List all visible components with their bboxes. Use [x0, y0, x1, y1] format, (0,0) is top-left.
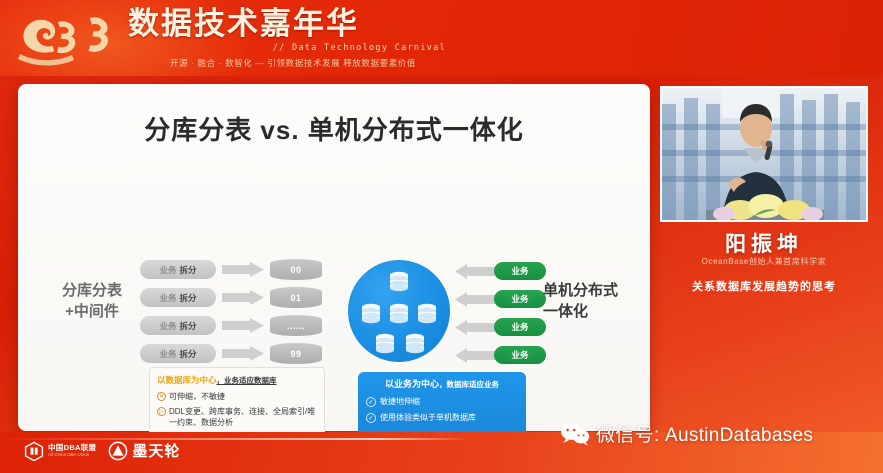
check-circle-icon: ✓: [366, 413, 376, 423]
speaker-photo-image: [662, 88, 868, 222]
database-icon: [360, 302, 382, 324]
speaker-role: OceanBase创始人兼首席科学家: [660, 256, 868, 267]
business-pill-green: 业务: [494, 346, 546, 364]
note-item-text: 可伸缩，不敏捷: [169, 391, 225, 402]
motianlun-logo-bottom: 墨天轮: [108, 440, 180, 461]
integrated-approach-label: 单机分布式 一体化: [543, 280, 643, 322]
play-circle-icon: ▷: [157, 407, 166, 416]
shard-cylinder: 01: [270, 287, 322, 308]
arrow-right-icon: [222, 290, 264, 305]
slide-screenshot: 数据技术嘉年华 // Data Technology Carnival 开源 ·…: [0, 0, 883, 473]
event-title: 数据技术嘉年华: [128, 6, 548, 42]
business-pill-green: 业务: [494, 290, 546, 308]
business-pill-action: 拆分: [180, 320, 197, 332]
wave-numeral-533-logo: [14, 6, 132, 70]
note-item: ✓ 敏捷地伸缩: [366, 396, 518, 407]
database-icon: [404, 332, 426, 354]
database-icon: [388, 302, 410, 324]
arrow-right-icon: [222, 318, 264, 333]
wechat-icon: [560, 422, 590, 446]
business-centric-rest: ，数据库适应业务: [439, 380, 499, 389]
db-centric-accent: 以数据库为中心: [157, 375, 217, 385]
dba-union-cn-bottom: 中国DBA联盟: [48, 443, 96, 452]
business-pill: 业务 拆分: [140, 288, 216, 307]
distributed-database-circle: [348, 260, 450, 362]
note-item: ✕ 可伸缩，不敏捷: [157, 391, 317, 402]
business-centric-accent: 以业务为中心: [385, 379, 439, 389]
business-pill-tag: 业务: [159, 320, 176, 332]
slide-title: 分库分表 vs. 单机分布式一体化: [18, 110, 650, 147]
database-icon: [374, 332, 396, 354]
dba-union-mark-icon: [24, 441, 44, 461]
header-text-block: 数据技术嘉年华 // Data Technology Carnival 开源 ·…: [128, 6, 548, 69]
note-item-text: 敏捷地伸缩: [380, 396, 420, 407]
database-icon: [416, 302, 438, 324]
motianlun-wordmark-bottom: 墨天轮: [132, 440, 180, 461]
arrow-right-icon: [222, 346, 264, 361]
business-pill: 业务 拆分: [140, 344, 216, 363]
presentation-slide: 分库分表 vs. 单机分布式一体化 分库分表 +中间件 业务 拆分 00 业务 …: [18, 84, 650, 431]
business-centric-note-box: 以业务为中心，数据库适应业务 ✓ 敏捷地伸缩 ✓ 使用体验类似于单机数据库: [358, 372, 526, 440]
bottom-logos: 中国DBA联盟 All China DBA Union 墨天轮: [24, 440, 180, 461]
motianlun-mark-icon: [108, 441, 128, 461]
note-item: ✓ 使用体验类似于单机数据库: [366, 412, 518, 423]
integrated-label-line2: 一体化: [543, 301, 643, 322]
event-title-english: // Data Technology Carnival: [128, 43, 446, 53]
note-item: ▷ DDL变更、跨库事务、连接、全局索引/唯一约束、数据分析: [157, 406, 317, 428]
arrow-left-icon: [455, 264, 495, 279]
business-pill-tag: 业务: [159, 292, 176, 304]
shard-row: 业务 拆分 ......: [140, 316, 325, 335]
event-header-banner: 数据技术嘉年华 // Data Technology Carnival 开源 ·…: [0, 0, 883, 76]
note-item-text: 使用体验类似于单机数据库: [380, 412, 476, 423]
sharding-label-line2: +中间件: [42, 301, 142, 322]
cross-circle-icon: ✕: [157, 392, 166, 401]
business-pill: 业务 拆分: [140, 316, 216, 335]
check-circle-icon: ✓: [366, 397, 376, 407]
dba-union-logo-bottom: 中国DBA联盟 All China DBA Union: [24, 441, 96, 461]
shard-row: 业务 拆分 00: [140, 260, 325, 279]
arrow-right-icon: [222, 262, 264, 277]
arrow-left-icon: [455, 348, 495, 363]
business-pill-action: 拆分: [180, 264, 197, 276]
db-centric-note-heading: 以数据库为中心，业务适应数据库: [157, 374, 317, 387]
business-pill-action: 拆分: [180, 292, 197, 304]
business-pill-action: 拆分: [180, 348, 197, 360]
business-pill-green: 业务: [494, 262, 546, 280]
business-centric-note-heading: 以业务为中心，数据库适应业务: [366, 378, 518, 391]
shard-cylinder: 99: [270, 343, 322, 364]
speaker-photo: [660, 86, 868, 222]
dba-union-en-bottom: All China DBA Union: [48, 452, 96, 458]
business-pill: 业务 拆分: [140, 260, 216, 279]
db-centric-rest: ，业务适应数据库: [217, 376, 277, 385]
sharding-label-line1: 分库分表: [42, 280, 142, 301]
shard-cylinder: ......: [270, 315, 322, 336]
sharding-approach-label: 分库分表 +中间件: [42, 280, 142, 322]
wechat-id-text: 微信号: AustinDatabases: [596, 420, 813, 447]
wechat-watermark: 微信号: AustinDatabases: [560, 420, 813, 447]
speaker-topic: 关系数据库发展趋势的思考: [660, 278, 868, 294]
note-item-text: DDL变更、跨库事务、连接、全局索引/唯一约束、数据分析: [169, 406, 317, 428]
database-icon: [388, 270, 410, 292]
speaker-name: 阳振坤: [660, 228, 868, 258]
arrow-left-icon: [455, 292, 495, 307]
shard-cylinder: 00: [270, 259, 322, 280]
business-pill-tag: 业务: [159, 348, 176, 360]
shard-row: 业务 拆分 99: [140, 344, 325, 363]
business-pill-green: 业务: [494, 318, 546, 336]
shard-row: 业务 拆分 01: [140, 288, 325, 307]
arrow-left-icon: [455, 320, 495, 335]
db-centric-note-box: 以数据库为中心，业务适应数据库 ✕ 可伸缩，不敏捷 ▷ DDL变更、跨库事务、连…: [149, 367, 325, 440]
event-subtitle: 开源 · 融合 · 数智化 — 引领数据技术发展 释放数据要素价值: [128, 57, 458, 69]
business-pill-tag: 业务: [159, 264, 176, 276]
integrated-label-line1: 单机分布式: [543, 280, 643, 301]
